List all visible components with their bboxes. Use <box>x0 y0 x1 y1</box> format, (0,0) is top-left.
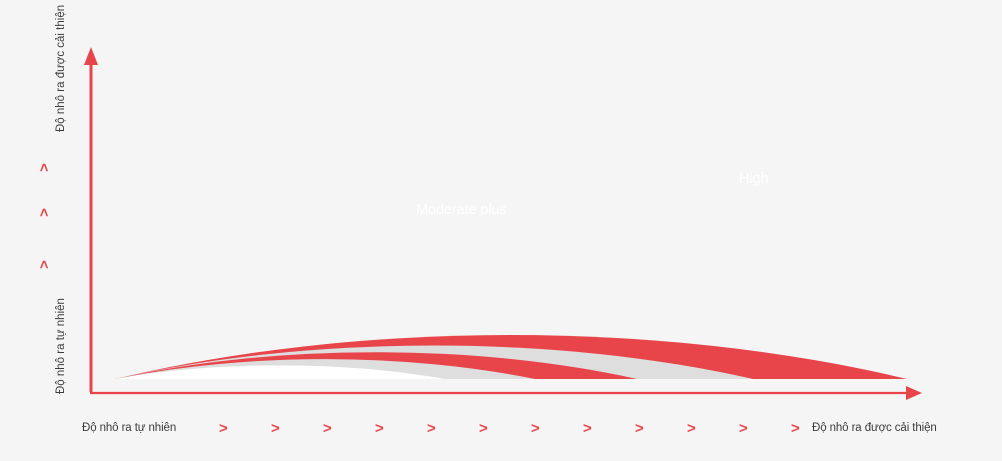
chart-canvas: Độ nhô ra được cải thiện Độ nhô ra tự nh… <box>0 0 1002 461</box>
x-axis-chevron-icon-5: > <box>427 421 436 436</box>
x-axis-right-label: Độ nhô ra được cải thiện <box>812 423 937 435</box>
band-label-moderate-plus: Moderate plus <box>416 203 507 218</box>
y-axis-arrow-head <box>84 47 98 65</box>
x-axis-chevron-icon-6: > <box>479 421 488 436</box>
x-axis-chevron-icon-1: > <box>219 421 228 436</box>
y-axis-top-label: Độ nhô ra được cải thiện <box>56 5 68 132</box>
x-axis-chevron-icon-8: > <box>583 421 592 436</box>
y-axis-chevron-icon-3: > <box>37 260 52 269</box>
x-axis-chevron-icon-2: > <box>271 421 280 436</box>
x-axis-chevron-icon-11: > <box>739 421 748 436</box>
x-axis-chevron-icon-12: > <box>791 421 800 436</box>
x-axis-chevron-icon-3: > <box>323 421 332 436</box>
x-axis-chevron-icon-7: > <box>531 421 540 436</box>
arc-chart-svg <box>0 0 1002 461</box>
x-axis-chevron-icon-4: > <box>375 421 384 436</box>
y-axis-chevron-icon-1: > <box>37 163 52 172</box>
arc-bands <box>115 335 907 379</box>
x-axis-arrow-head <box>906 386 922 400</box>
band-label-high: High <box>739 172 768 187</box>
y-axis-bottom-label: Độ nhô ra tự nhiên <box>56 298 68 394</box>
x-axis-left-label: Độ nhô ra tự nhiên <box>82 423 176 435</box>
x-axis-chevron-icon-9: > <box>635 421 644 436</box>
x-axis-chevron-icon-10: > <box>687 421 696 436</box>
y-axis-chevron-icon-2: > <box>37 208 52 217</box>
